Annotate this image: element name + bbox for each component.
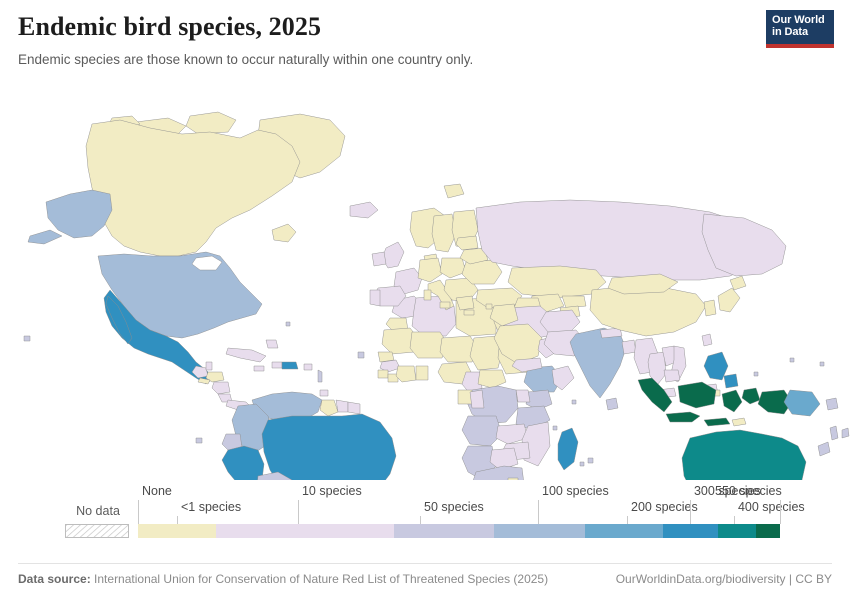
- country-india[interactable]: [570, 328, 626, 398]
- chart-footer: Data source: International Union for Con…: [18, 563, 832, 586]
- legend-tick-line-2: [298, 500, 299, 524]
- country-baltics[interactable]: [456, 236, 478, 250]
- chart-header: Endemic bird species, 2025 Endemic speci…: [18, 12, 832, 68]
- legend-tick-line-6: [690, 500, 691, 524]
- no-data-label: No data: [65, 504, 131, 518]
- world-choropleth-map[interactable]: [0, 90, 850, 480]
- legend-bin-6[interactable]: [718, 524, 756, 538]
- legend-bin-1[interactable]: [216, 524, 394, 538]
- legend-tick-line-4: [538, 500, 539, 524]
- legend-bin-5[interactable]: [663, 524, 718, 538]
- legend-tick-label-0: None: [142, 484, 172, 498]
- country-australia[interactable]: [682, 430, 806, 480]
- footer-attribution[interactable]: OurWorldinData.org/biodiversity | CC BY: [616, 572, 832, 586]
- country-dominican-republic[interactable]: [282, 362, 298, 369]
- country-kyrgyzstan[interactable]: [562, 296, 586, 308]
- country-french-guiana[interactable]: [348, 402, 360, 414]
- legend-tick-label-3: 50 species: [424, 500, 484, 514]
- country-lesser-antilles[interactable]: [318, 370, 322, 382]
- legend-bin-2[interactable]: [394, 524, 494, 538]
- country-galapagos-dot[interactable]: [196, 438, 202, 443]
- legend-tick-line-5: [627, 516, 628, 524]
- country-canada-arctic-2[interactable]: [186, 112, 236, 134]
- country-poland[interactable]: [440, 258, 466, 278]
- country-portugal[interactable]: [370, 290, 380, 306]
- country-congo[interactable]: [470, 390, 484, 408]
- country-haiti[interactable]: [272, 362, 282, 368]
- legend-tick-label-5: 200 species: [631, 500, 698, 514]
- diagonal-hatch-icon: [66, 525, 128, 537]
- country-sierra-leone[interactable]: [378, 370, 388, 378]
- legend-tick-line-7: [734, 516, 735, 524]
- country-bangladesh[interactable]: [622, 340, 636, 354]
- legend-color-bar[interactable]: [138, 524, 780, 538]
- country-iceland[interactable]: [350, 202, 378, 218]
- country-japan-north[interactable]: [730, 276, 746, 290]
- country-solomon-islands[interactable]: [826, 398, 838, 410]
- country-bahamas[interactable]: [266, 340, 278, 348]
- data-source-value: International Union for Conservation of …: [94, 572, 548, 586]
- country-indonesia-lesser-sunda[interactable]: [704, 418, 730, 426]
- country-china[interactable]: [590, 286, 706, 336]
- footer-source: Data source: International Union for Con…: [18, 572, 548, 586]
- country-lesotho[interactable]: [508, 478, 518, 480]
- country-fiji[interactable]: [842, 428, 849, 438]
- country-crete-dot[interactable]: [464, 310, 474, 315]
- map-countries: [24, 112, 849, 480]
- country-cambodia[interactable]: [664, 370, 680, 382]
- legend-bin-7[interactable]: [756, 524, 780, 538]
- country-indonesia-sumatra[interactable]: [638, 378, 672, 412]
- legend-bin-0[interactable]: [138, 524, 216, 538]
- country-reunion-dot[interactable]: [580, 462, 584, 466]
- legend-tick-line-3: [420, 516, 421, 524]
- country-sardinia-dot[interactable]: [424, 290, 431, 300]
- country-guyana[interactable]: [320, 400, 338, 416]
- chart-page: Endemic bird species, 2025 Endemic speci…: [0, 0, 850, 600]
- country-new-caledonia[interactable]: [818, 442, 830, 456]
- legend-tick-label-4: 100 species: [542, 484, 609, 498]
- country-jamaica[interactable]: [254, 366, 264, 371]
- country-germany[interactable]: [418, 258, 442, 282]
- legend-tick-label-8: 550 species: [715, 484, 782, 498]
- country-hawaii-dot[interactable]: [24, 336, 30, 341]
- logo-line-2: in Data: [772, 27, 828, 39]
- country-brazil[interactable]: [262, 414, 396, 480]
- country-indonesia-sulawesi[interactable]: [722, 390, 742, 412]
- legend-bin-4[interactable]: [585, 524, 663, 538]
- legend-tick-line-8: [780, 500, 781, 524]
- country-belize[interactable]: [206, 362, 212, 370]
- country-comoros-dot[interactable]: [553, 426, 557, 430]
- country-trinidad[interactable]: [320, 390, 328, 396]
- country-peru[interactable]: [222, 446, 264, 480]
- legend-bin-3[interactable]: [494, 524, 586, 538]
- country-madagascar[interactable]: [558, 428, 578, 470]
- country-papua-new-guinea[interactable]: [784, 390, 820, 416]
- country-cape-verde[interactable]: [358, 352, 364, 358]
- country-uganda[interactable]: [516, 390, 530, 402]
- country-bermuda-dot[interactable]: [286, 322, 290, 326]
- country-sicily-dot[interactable]: [440, 302, 450, 308]
- map-svg: [0, 90, 850, 480]
- country-mauritius-dot[interactable]: [588, 458, 593, 463]
- legend-tick-line-1: [177, 516, 178, 524]
- country-palau-dots[interactable]: [754, 372, 758, 376]
- no-data-swatch[interactable]: [65, 524, 129, 538]
- country-us-aleutians[interactable]: [28, 230, 62, 244]
- country-cuba[interactable]: [226, 348, 266, 362]
- country-taiwan[interactable]: [702, 334, 712, 346]
- data-source-label: Data source:: [18, 572, 91, 586]
- legend-tick-label-7: 400 species: [738, 500, 805, 514]
- country-ireland[interactable]: [372, 252, 386, 266]
- country-ghana[interactable]: [416, 366, 428, 380]
- country-puerto-rico[interactable]: [304, 364, 312, 370]
- country-indonesia-moluccas[interactable]: [742, 388, 760, 404]
- country-united-states-alaska[interactable]: [46, 190, 112, 238]
- country-cyprus-dot[interactable]: [486, 304, 492, 309]
- page-title: Endemic bird species, 2025: [18, 12, 832, 43]
- legend-tick-label-2: 10 species: [302, 484, 362, 498]
- country-canada-newfoundland[interactable]: [272, 224, 296, 242]
- country-sri-lanka[interactable]: [606, 398, 618, 410]
- country-sweden[interactable]: [432, 214, 456, 252]
- country-korea[interactable]: [704, 300, 716, 316]
- country-japan[interactable]: [718, 288, 740, 312]
- map-legend: No data None<1 species10 species50 speci…: [0, 492, 850, 552]
- country-timor-leste[interactable]: [732, 418, 746, 426]
- legend-tick-line-0: [138, 500, 139, 524]
- country-philippines-2[interactable]: [724, 374, 738, 388]
- country-indonesia-java[interactable]: [666, 412, 700, 422]
- country-angola[interactable]: [462, 416, 502, 446]
- chart-subtitle: Endemic species are those known to occur…: [18, 51, 832, 69]
- country-nicaragua[interactable]: [212, 382, 230, 394]
- country-marshall-dots[interactable]: [820, 362, 824, 366]
- country-svalbard[interactable]: [444, 184, 464, 198]
- country-ivory-coast[interactable]: [396, 366, 416, 382]
- our-world-in-data-logo[interactable]: Our World in Data: [766, 10, 834, 48]
- country-vanuatu[interactable]: [830, 426, 838, 440]
- country-suriname[interactable]: [336, 400, 348, 412]
- country-kazakhstan[interactable]: [508, 266, 606, 298]
- country-central-african-rep[interactable]: [478, 370, 506, 388]
- country-seychelles-dot[interactable]: [572, 400, 576, 404]
- legend-tick-label-1: <1 species: [181, 500, 241, 514]
- country-micronesia-dots[interactable]: [790, 358, 794, 362]
- country-canada[interactable]: [86, 120, 300, 256]
